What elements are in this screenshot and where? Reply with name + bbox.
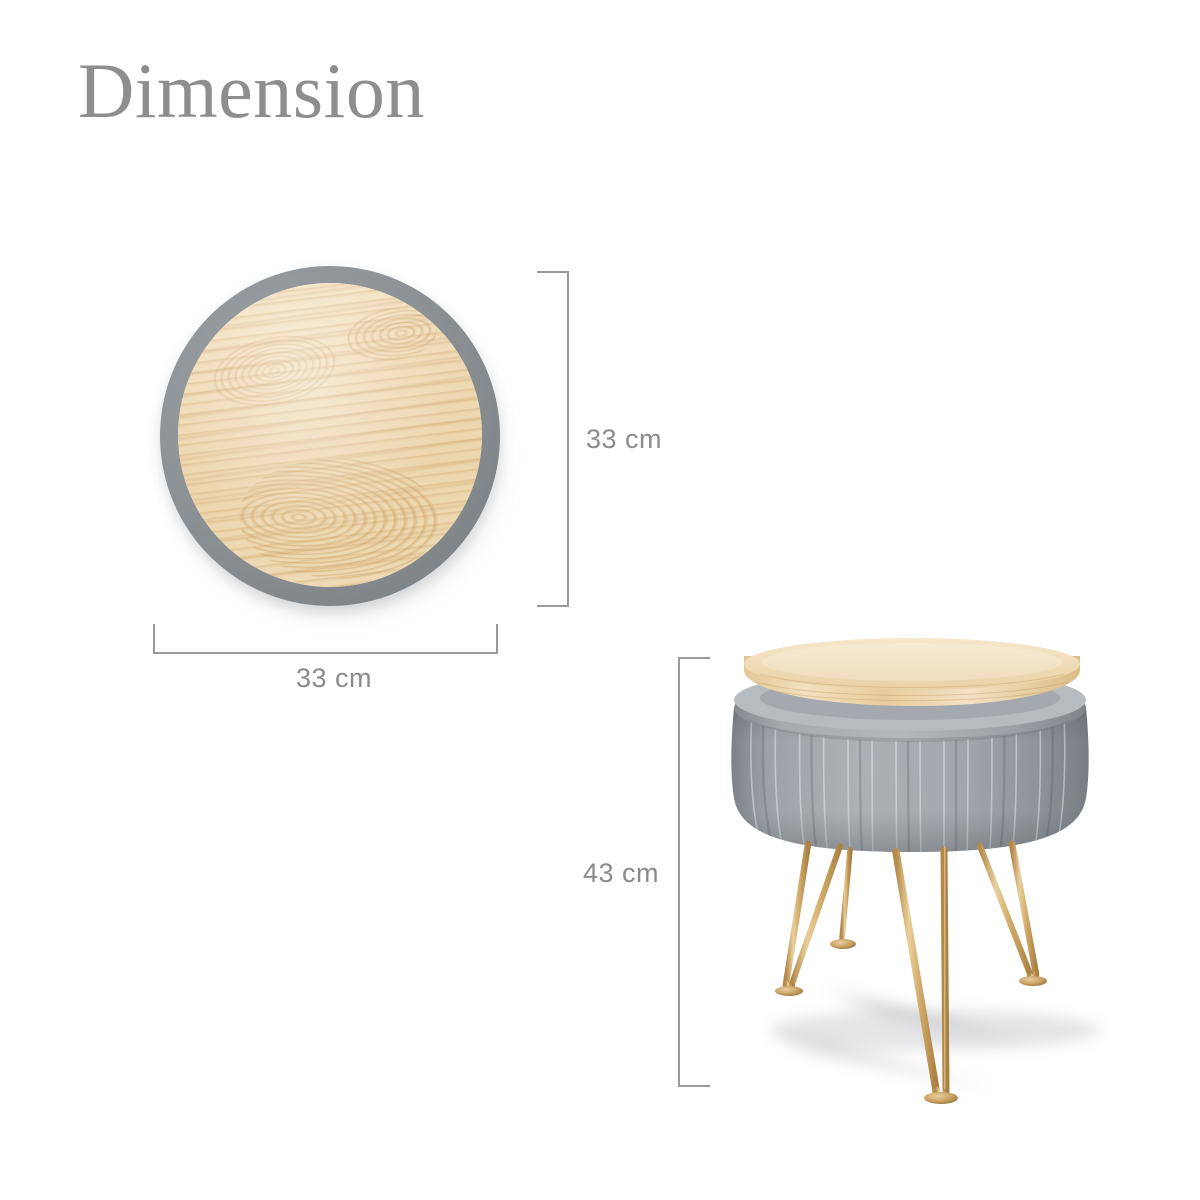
dimension-diagram-page: Dimension 33 cm 33 cm 43 cm <box>0 0 1200 1200</box>
wooden-lid <box>168 273 492 597</box>
diameter-bracket-cap-bottom <box>537 605 569 607</box>
wood-sheen <box>168 273 492 597</box>
leg-foot <box>1019 976 1047 986</box>
diameter-bracket-cap-top <box>537 271 569 273</box>
height-bracket-stem <box>678 657 680 1087</box>
width-bracket-cap-right <box>496 624 498 654</box>
page-title: Dimension <box>78 52 425 130</box>
leg-foot <box>775 986 803 996</box>
leg-foot <box>830 939 856 949</box>
diameter-bracket-stem <box>567 271 569 607</box>
leg-back-right <box>980 844 1047 986</box>
diameter-label: 33 cm <box>586 424 662 455</box>
width-bracket-stem <box>153 652 498 654</box>
width-label: 33 cm <box>296 663 372 694</box>
side-view-stool <box>700 612 1120 1132</box>
width-bracket-cap-left <box>153 624 155 654</box>
leg-back-left <box>775 844 840 996</box>
top-view-stool <box>152 252 512 612</box>
leg-foot <box>924 1092 958 1104</box>
height-label: 43 cm <box>583 858 659 889</box>
